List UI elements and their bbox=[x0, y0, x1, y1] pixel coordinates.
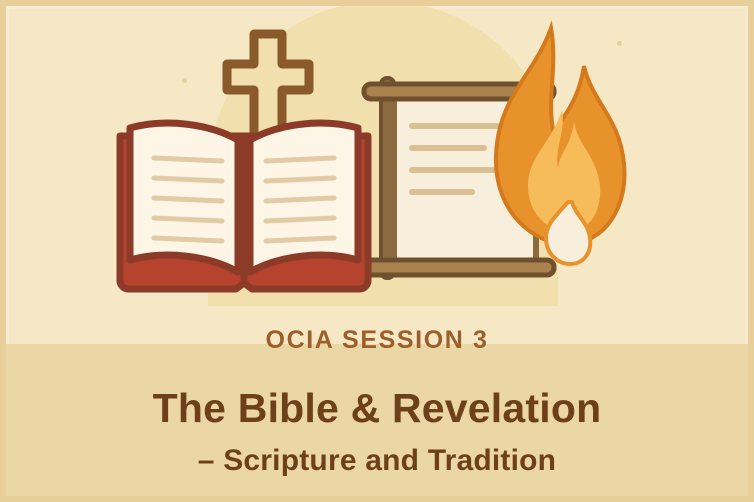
slide-artwork bbox=[6, 6, 754, 336]
page-title: The Bible & Revelation bbox=[6, 385, 748, 432]
slide-card: OCIA SESSION 3 The Bible & Revelation – … bbox=[0, 0, 754, 502]
session-label: OCIA SESSION 3 bbox=[6, 326, 748, 355]
page-subtitle: – Scripture and Tradition bbox=[6, 444, 748, 478]
open-bible-icon bbox=[120, 123, 368, 289]
